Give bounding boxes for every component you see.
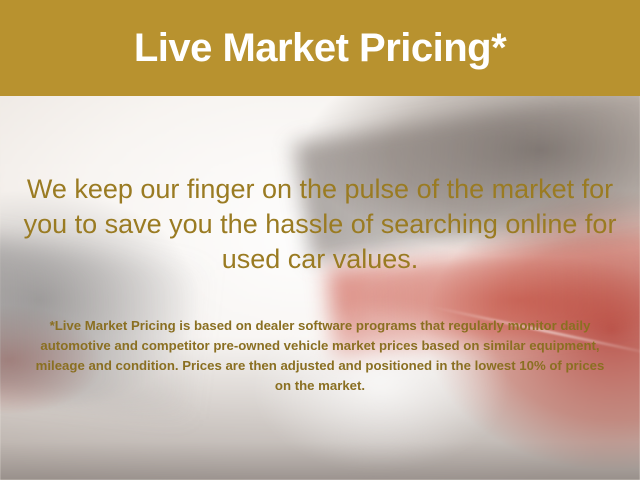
page-title: Live Market Pricing*	[134, 28, 506, 68]
headline-text: We keep our finger on the pulse of the m…	[0, 172, 640, 277]
live-market-pricing-graphic: Live Market Pricing* We keep our finger …	[0, 0, 640, 480]
disclaimer-text: *Live Market Pricing is based on dealer …	[0, 316, 640, 396]
header-banner: Live Market Pricing*	[0, 0, 640, 96]
